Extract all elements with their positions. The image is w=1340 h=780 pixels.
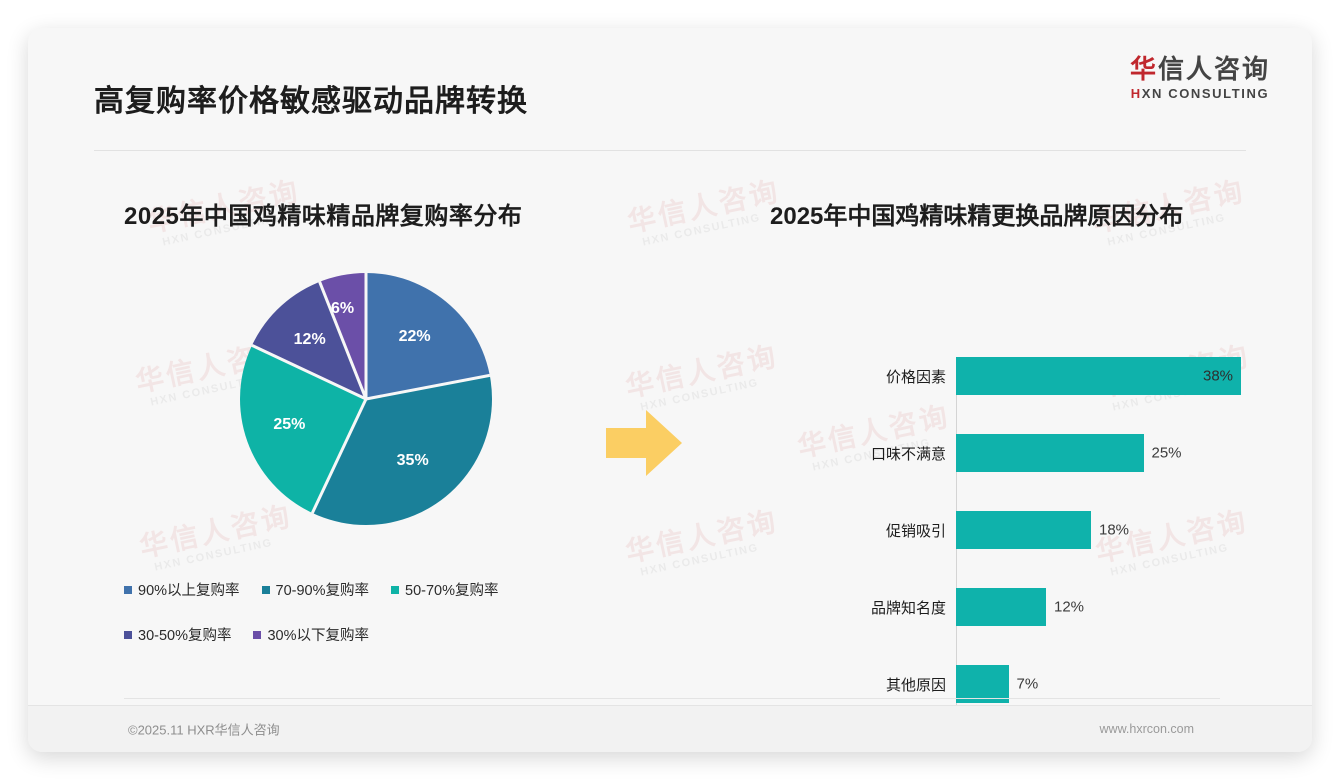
watermark-en: HXN CONSULTING — [641, 207, 785, 249]
pie-legend: 90%以上复购率70-90%复购率50-70%复购率30-50%复购率30%以下… — [124, 579, 594, 645]
bar-row[interactable]: 口味不满意25% — [770, 434, 1275, 472]
legend-row: 90%以上复购率70-90%复购率50-70%复购率 — [124, 579, 594, 600]
pie-separator-lines — [240, 273, 492, 525]
footer-copyright: ©2025.11 HXR华信人咨询 — [128, 720, 280, 739]
legend-item[interactable]: 30%以下复购率 — [253, 624, 369, 645]
watermark-cn: 华信人咨询 — [625, 177, 782, 237]
bar-row[interactable]: 价格因素38% — [770, 357, 1275, 395]
header-divider — [94, 150, 1246, 151]
bar-fill — [956, 511, 1091, 549]
logo-chinese-text: 华信人咨询 — [1130, 56, 1270, 83]
pie-chart: 22%35%25%12%6% — [124, 265, 614, 565]
bar-fill — [956, 357, 1241, 395]
watermark-cn: 华信人咨询 — [623, 507, 780, 567]
right-arrow-icon — [606, 406, 682, 480]
bar-chart-title: 2025年中国鸡精味精更换品牌原因分布 — [770, 196, 1275, 231]
bar-chart: 价格因素38%口味不满意25%促销吸引18%品牌知名度12%其他原因7% — [770, 271, 1275, 671]
bar-category-label: 促销吸引 — [770, 520, 956, 541]
slide-card: 华信人咨询HXN CONSULTING 华信人咨询HXN CONSULTING … — [28, 28, 1312, 752]
bar-value-label: 18% — [1099, 522, 1129, 539]
bar-track: 25% — [956, 434, 1275, 472]
company-logo: 华信人咨询 HXN CONSULTING — [1130, 56, 1270, 101]
bar-category-label: 其他原因 — [770, 674, 956, 695]
legend-label: 30-50%复购率 — [138, 624, 231, 645]
legend-item[interactable]: 90%以上复购率 — [124, 579, 240, 600]
logo-en-dark: XN CONSULTING — [1142, 86, 1269, 101]
pie-chart-panel: 2025年中国鸡精味精品牌复购率分布 22%35%25%12%6% 90%以上复… — [124, 196, 614, 669]
footnote-divider — [124, 698, 1220, 699]
pie-slice-label: 25% — [273, 416, 305, 434]
legend-row: 30-50%复购率30%以下复购率 — [124, 624, 594, 645]
bar-row[interactable]: 促销吸引18% — [770, 511, 1275, 549]
bar-fill — [956, 588, 1046, 626]
legend-swatch-icon — [124, 631, 132, 639]
legend-label: 30%以下复购率 — [267, 624, 369, 645]
pie-slice-label: 6% — [331, 300, 354, 318]
slide-footer: ©2025.11 HXR华信人咨询 www.hxrcon.com — [28, 705, 1312, 752]
logo-cn-red: 华 — [1130, 54, 1158, 84]
pie-slice-label: 35% — [397, 452, 429, 470]
bar-track: 38% — [956, 357, 1275, 395]
legend-label: 50-70%复购率 — [405, 579, 498, 600]
legend-item[interactable]: 30-50%复购率 — [124, 624, 231, 645]
pie-slice-label: 22% — [399, 328, 431, 346]
watermark-en: HXN CONSULTING — [639, 537, 783, 579]
pie-chart-title: 2025年中国鸡精味精品牌复购率分布 — [124, 196, 614, 231]
legend-swatch-icon — [253, 631, 261, 639]
bar-row[interactable]: 品牌知名度12% — [770, 588, 1275, 626]
bar-track: 12% — [956, 588, 1275, 626]
bar-value-label: 25% — [1152, 445, 1182, 462]
legend-swatch-icon — [262, 586, 270, 594]
pie-slice-label: 12% — [294, 331, 326, 349]
bar-category-label: 口味不满意 — [770, 443, 956, 464]
bar-category-label: 品牌知名度 — [770, 597, 956, 618]
legend-label: 90%以上复购率 — [138, 579, 240, 600]
page-title: 高复购率价格敏感驱动品牌转换 — [94, 76, 528, 120]
legend-label: 70-90%复购率 — [276, 579, 369, 600]
bar-value-label: 7% — [1017, 676, 1039, 693]
bar-category-label: 价格因素 — [770, 366, 956, 387]
bar-value-label: 38% — [1203, 368, 1233, 385]
logo-english-text: HXN CONSULTING — [1130, 86, 1270, 101]
bar-chart-panel: 2025年中国鸡精味精更换品牌原因分布 价格因素38%口味不满意25%促销吸引1… — [770, 196, 1275, 671]
legend-item[interactable]: 50-70%复购率 — [391, 579, 498, 600]
watermark-cn: 华信人咨询 — [623, 342, 780, 402]
legend-item[interactable]: 70-90%复购率 — [262, 579, 369, 600]
bar-value-label: 12% — [1054, 599, 1084, 616]
logo-en-red: H — [1131, 86, 1142, 101]
bar-track: 18% — [956, 511, 1275, 549]
legend-swatch-icon — [124, 586, 132, 594]
footer-website[interactable]: www.hxrcon.com — [1100, 722, 1194, 736]
slide-header: 高复购率价格敏感驱动品牌转换 华信人咨询 HXN CONSULTING — [28, 28, 1312, 120]
bar-fill — [956, 434, 1144, 472]
legend-swatch-icon — [391, 586, 399, 594]
logo-cn-dark: 信人咨询 — [1158, 54, 1270, 84]
